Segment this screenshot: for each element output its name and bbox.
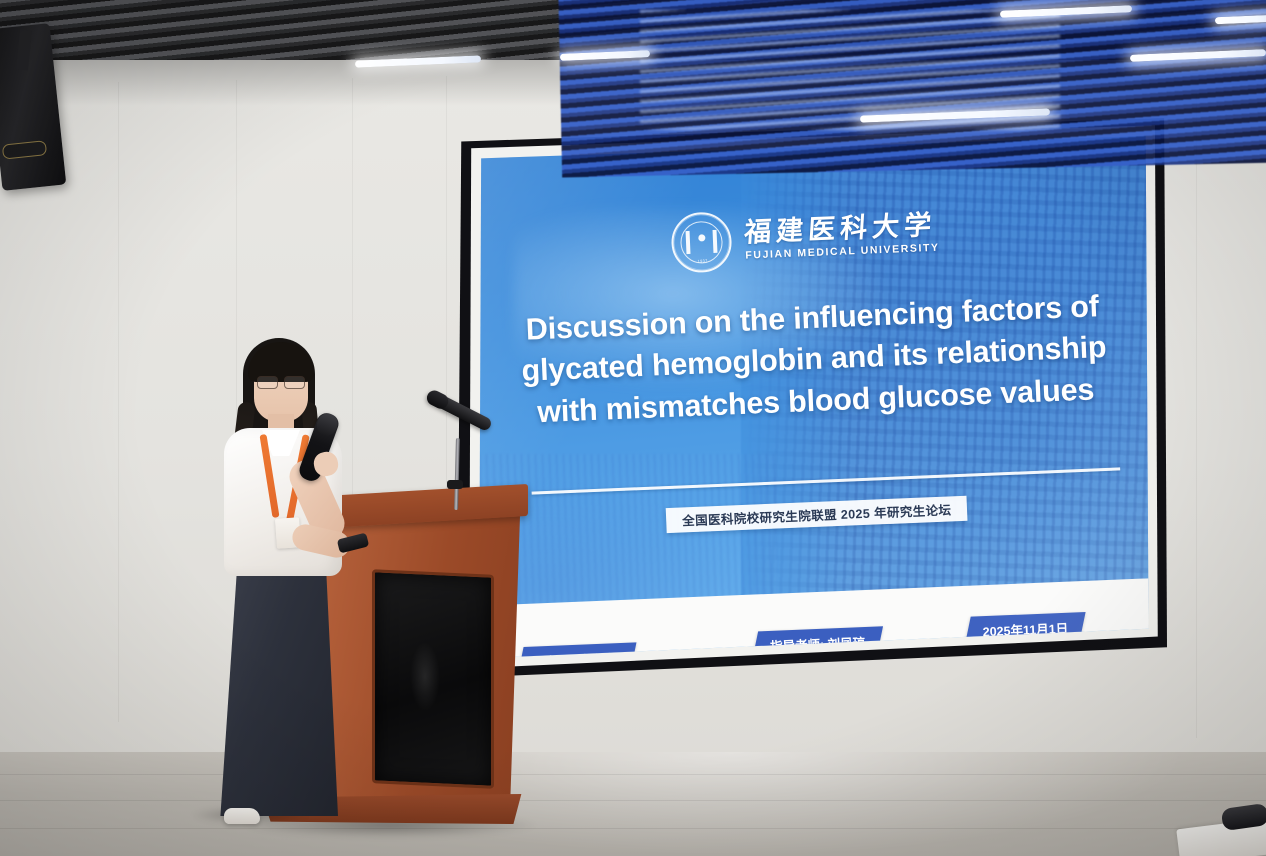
slide-surface: 1937 福建医科大学 FUJIAN MEDICAL UNIVERSITY Di… <box>457 118 1167 678</box>
floor-light-reflection <box>430 752 1190 856</box>
presenter-shoe <box>224 808 260 824</box>
floor-plank-line-1 <box>0 774 1266 775</box>
wall-seam-5 <box>1196 92 1197 738</box>
speaker-brand-badge <box>2 140 47 160</box>
eyeglasses-icon <box>257 376 305 387</box>
university-seal-icon: 1937 <box>671 211 733 273</box>
floor-plank-line-2 <box>0 800 1266 801</box>
floor-plank-line-3 <box>0 828 1266 829</box>
presentation-photo: 1937 福建医科大学 FUJIAN MEDICAL UNIVERSITY Di… <box>0 0 1266 856</box>
university-logo: 1937 福建医科大学 FUJIAN MEDICAL UNIVERSITY <box>457 194 1161 283</box>
speaker-bracket <box>16 29 32 70</box>
slide-title: Discussion on the influencing factors of… <box>489 284 1140 436</box>
university-wordmark: 福建医科大学 FUJIAN MEDICAL UNIVERSITY <box>744 212 940 261</box>
microphone-clip <box>447 480 463 489</box>
seal-year: 1937 <box>697 258 707 263</box>
seal-emblem-icon <box>686 230 718 254</box>
podium-front-panel <box>372 569 494 789</box>
slide-subtitle-bar: 全国医科院校研究生院联盟 2025 年研究生论坛 <box>666 496 968 533</box>
wall-seam-1 <box>118 82 119 722</box>
slide-content: 1937 福建医科大学 FUJIAN MEDICAL UNIVERSITY Di… <box>457 118 1167 678</box>
presenter-speaking <box>196 330 386 840</box>
projection-screen: 1937 福建医科大学 FUJIAN MEDICAL UNIVERSITY Di… <box>457 118 1167 678</box>
slide-divider-line <box>532 467 1121 494</box>
presenter-skirt <box>218 566 338 816</box>
